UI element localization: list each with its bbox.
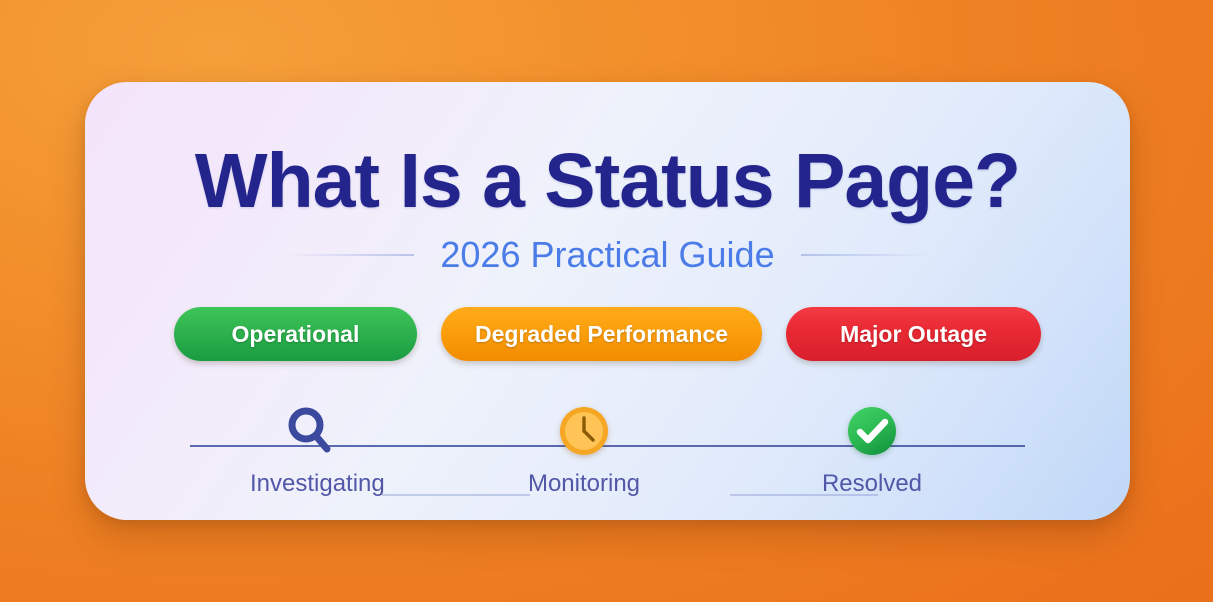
page-subtitle: 2026 Practical Guide (440, 234, 774, 276)
page-title: What Is a Status Page? (85, 137, 1130, 226)
status-badges: Operational Degraded Performance Major O… (85, 307, 1130, 361)
status-badge-operational[interactable]: Operational (174, 307, 417, 361)
timeline-step-resolved-label: Resolved (812, 470, 932, 498)
status-badge-major-outage[interactable]: Major Outage (786, 307, 1041, 361)
check-circle-icon (846, 405, 898, 457)
status-badge-degraded-performance[interactable]: Degraded Performance (441, 307, 762, 361)
clock-icon (558, 405, 610, 457)
timeline-label-rule-1 (382, 494, 530, 496)
timeline-step-monitoring[interactable]: Monitoring (524, 398, 644, 498)
subtitle-rule-right (801, 254, 929, 256)
timeline-step-investigating[interactable]: Investigating (250, 398, 370, 498)
subtitle-row: 2026 Practical Guide (85, 234, 1130, 276)
timeline-step-resolved-icon-wrap (812, 398, 932, 464)
subtitle-rule-left (286, 254, 414, 256)
status-page-card: What Is a Status Page? 2026 Practical Gu… (85, 82, 1130, 520)
timeline-step-monitoring-label: Monitoring (524, 470, 644, 498)
timeline-step-resolved[interactable]: Resolved (812, 398, 932, 498)
magnifying-glass-icon (281, 402, 339, 460)
timeline-step-investigating-icon-wrap (250, 398, 370, 464)
incident-timeline: Investigating Monitoring (190, 398, 1025, 508)
timeline-step-investigating-label: Investigating (250, 470, 370, 498)
timeline-step-monitoring-icon-wrap (524, 398, 644, 464)
